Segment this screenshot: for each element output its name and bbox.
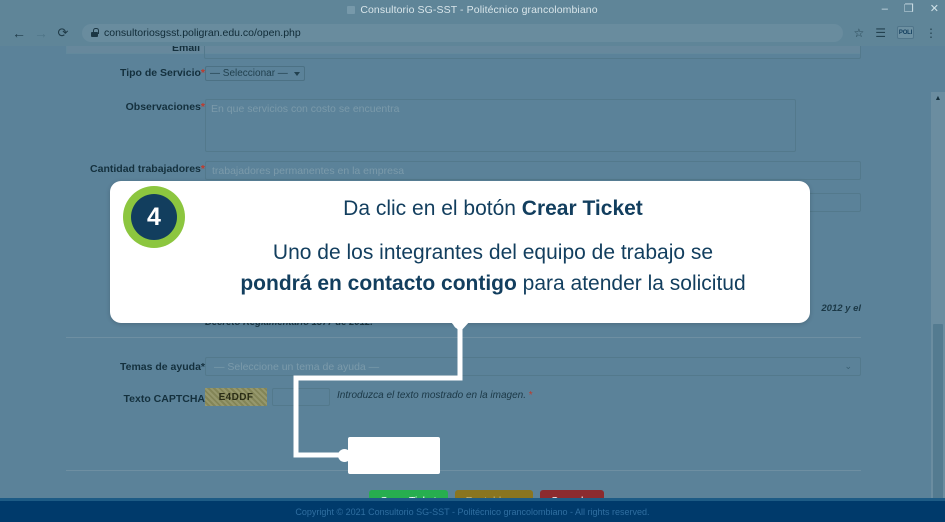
favicon-icon <box>347 6 355 14</box>
tipo-servicio-select[interactable]: — Seleccionar — <box>205 66 305 81</box>
tutorial-callout: 4 Da clic en el botón Crear Ticket Uno d… <box>110 181 810 323</box>
url-text: consultoriosgsst.poligran.edu.co/open.ph… <box>104 27 301 39</box>
temas-select[interactable]: — Seleccione un tema de ayuda — ⌄ <box>205 357 861 376</box>
reading-list-icon[interactable]: ☰ <box>875 27 886 39</box>
extension-icon[interactable]: POLI <box>897 26 914 39</box>
connector-knob-callout <box>453 316 466 329</box>
window-controls: – ❐ ✕ <box>882 0 939 19</box>
temas-value: — Seleccione un tema de ayuda — <box>214 361 379 373</box>
copyright-text: Copyright © 2021 Consultorio SG-SST - Po… <box>295 507 649 517</box>
callout-heading-bold: Crear Ticket <box>522 197 643 220</box>
lock-icon <box>91 28 98 37</box>
temas-label: Temas de ayuda* <box>66 361 205 374</box>
field-row-cantidad: Cantidad trabajadores* <box>52 163 205 176</box>
cantidad-label: Cantidad trabajadores* <box>52 163 205 176</box>
tipo-servicio-label: Tipo de Servicio* <box>60 67 205 80</box>
chevron-down-icon <box>294 72 300 76</box>
address-bar[interactable]: consultoriosgsst.poligran.edu.co/open.ph… <box>82 24 843 42</box>
scrollbar-thumb[interactable] <box>933 324 943 522</box>
captcha-label: Texto CAPTCHA <box>66 393 205 406</box>
callout-text: Da clic en el botón Crear Ticket Uno de … <box>188 193 798 299</box>
back-icon[interactable]: ← <box>8 22 30 44</box>
field-row-tipo-servicio: Tipo de Servicio* <box>60 67 205 80</box>
captcha-text: E4DDF <box>219 392 254 403</box>
step-badge: 4 <box>123 186 185 248</box>
callout-heading: Da clic en el botón Crear Ticket <box>188 193 798 225</box>
callout-body-bold: pondrá en contacto contigo <box>240 272 517 295</box>
field-row-captcha: Texto CAPTCHA <box>66 393 205 406</box>
captcha-input[interactable] <box>272 388 330 406</box>
vertical-scrollbar[interactable]: ▲ <box>931 92 945 522</box>
chevron-down-icon: ⌄ <box>844 361 852 372</box>
forward-icon[interactable]: → <box>30 22 52 44</box>
field-row-observaciones: Observaciones* <box>60 101 205 114</box>
page-footer: Copyright © 2021 Consultorio SG-SST - Po… <box>0 501 945 522</box>
browser-toolbar: ← → ⟳ consultoriosgsst.poligran.edu.co/o… <box>0 19 945 46</box>
reload-icon[interactable]: ⟳ <box>52 22 74 44</box>
bookmark-star-icon[interactable]: ☆ <box>853 27 864 39</box>
captcha-hint: Introduzca el texto mostrado en la image… <box>337 390 533 401</box>
create-ticket-spotlight <box>348 437 440 474</box>
email-label: Email <box>110 46 200 55</box>
step-number: 4 <box>131 194 177 240</box>
callout-body-line-2: pondrá en contacto contigo para atender … <box>188 268 798 299</box>
scroll-up-icon[interactable]: ▲ <box>931 92 945 104</box>
connector-knob-button <box>338 449 351 462</box>
callout-heading-prefix: Da clic en el botón <box>343 197 522 220</box>
minimize-icon[interactable]: – <box>882 4 888 15</box>
email-input[interactable] <box>204 46 861 59</box>
divider-top <box>66 337 861 338</box>
field-row-temas: Temas de ayuda* <box>66 361 205 374</box>
tab-title-text: Consultorio SG-SST - Politécnico grancol… <box>360 4 597 16</box>
captcha-image: E4DDF <box>205 388 267 406</box>
browser-tab[interactable]: Consultorio SG-SST - Politécnico grancol… <box>347 4 597 16</box>
cantidad-input[interactable]: trabajadores permanentes en la empresa <box>205 161 861 180</box>
tipo-servicio-value: — Seleccionar — <box>210 68 288 79</box>
callout-body-line-1: Uno de los integrantes del equipo de tra… <box>188 237 798 268</box>
divider-bottom <box>66 470 861 471</box>
cantidad-placeholder: trabajadores permanentes en la empresa <box>212 165 404 177</box>
toolbar-icons: ☆ ☰ POLI ⋮ <box>849 26 937 39</box>
required-asterisk: * <box>529 390 533 401</box>
observaciones-label: Observaciones* <box>60 101 205 114</box>
observaciones-placeholder: En que servicios con costo se encuentra <box>211 103 400 115</box>
menu-icon[interactable]: ⋮ <box>925 27 937 39</box>
browser-window: Consultorio SG-SST - Politécnico grancol… <box>0 0 945 522</box>
observaciones-textarea[interactable]: En que servicios con costo se encuentra <box>205 99 796 152</box>
browser-titlebar: Consultorio SG-SST - Politécnico grancol… <box>0 0 945 19</box>
maximize-icon[interactable]: ❐ <box>904 4 914 15</box>
callout-body-suffix: para atender la solicitud <box>517 272 746 295</box>
close-icon[interactable]: ✕ <box>930 4 939 15</box>
field-row-email: Email <box>110 46 200 55</box>
